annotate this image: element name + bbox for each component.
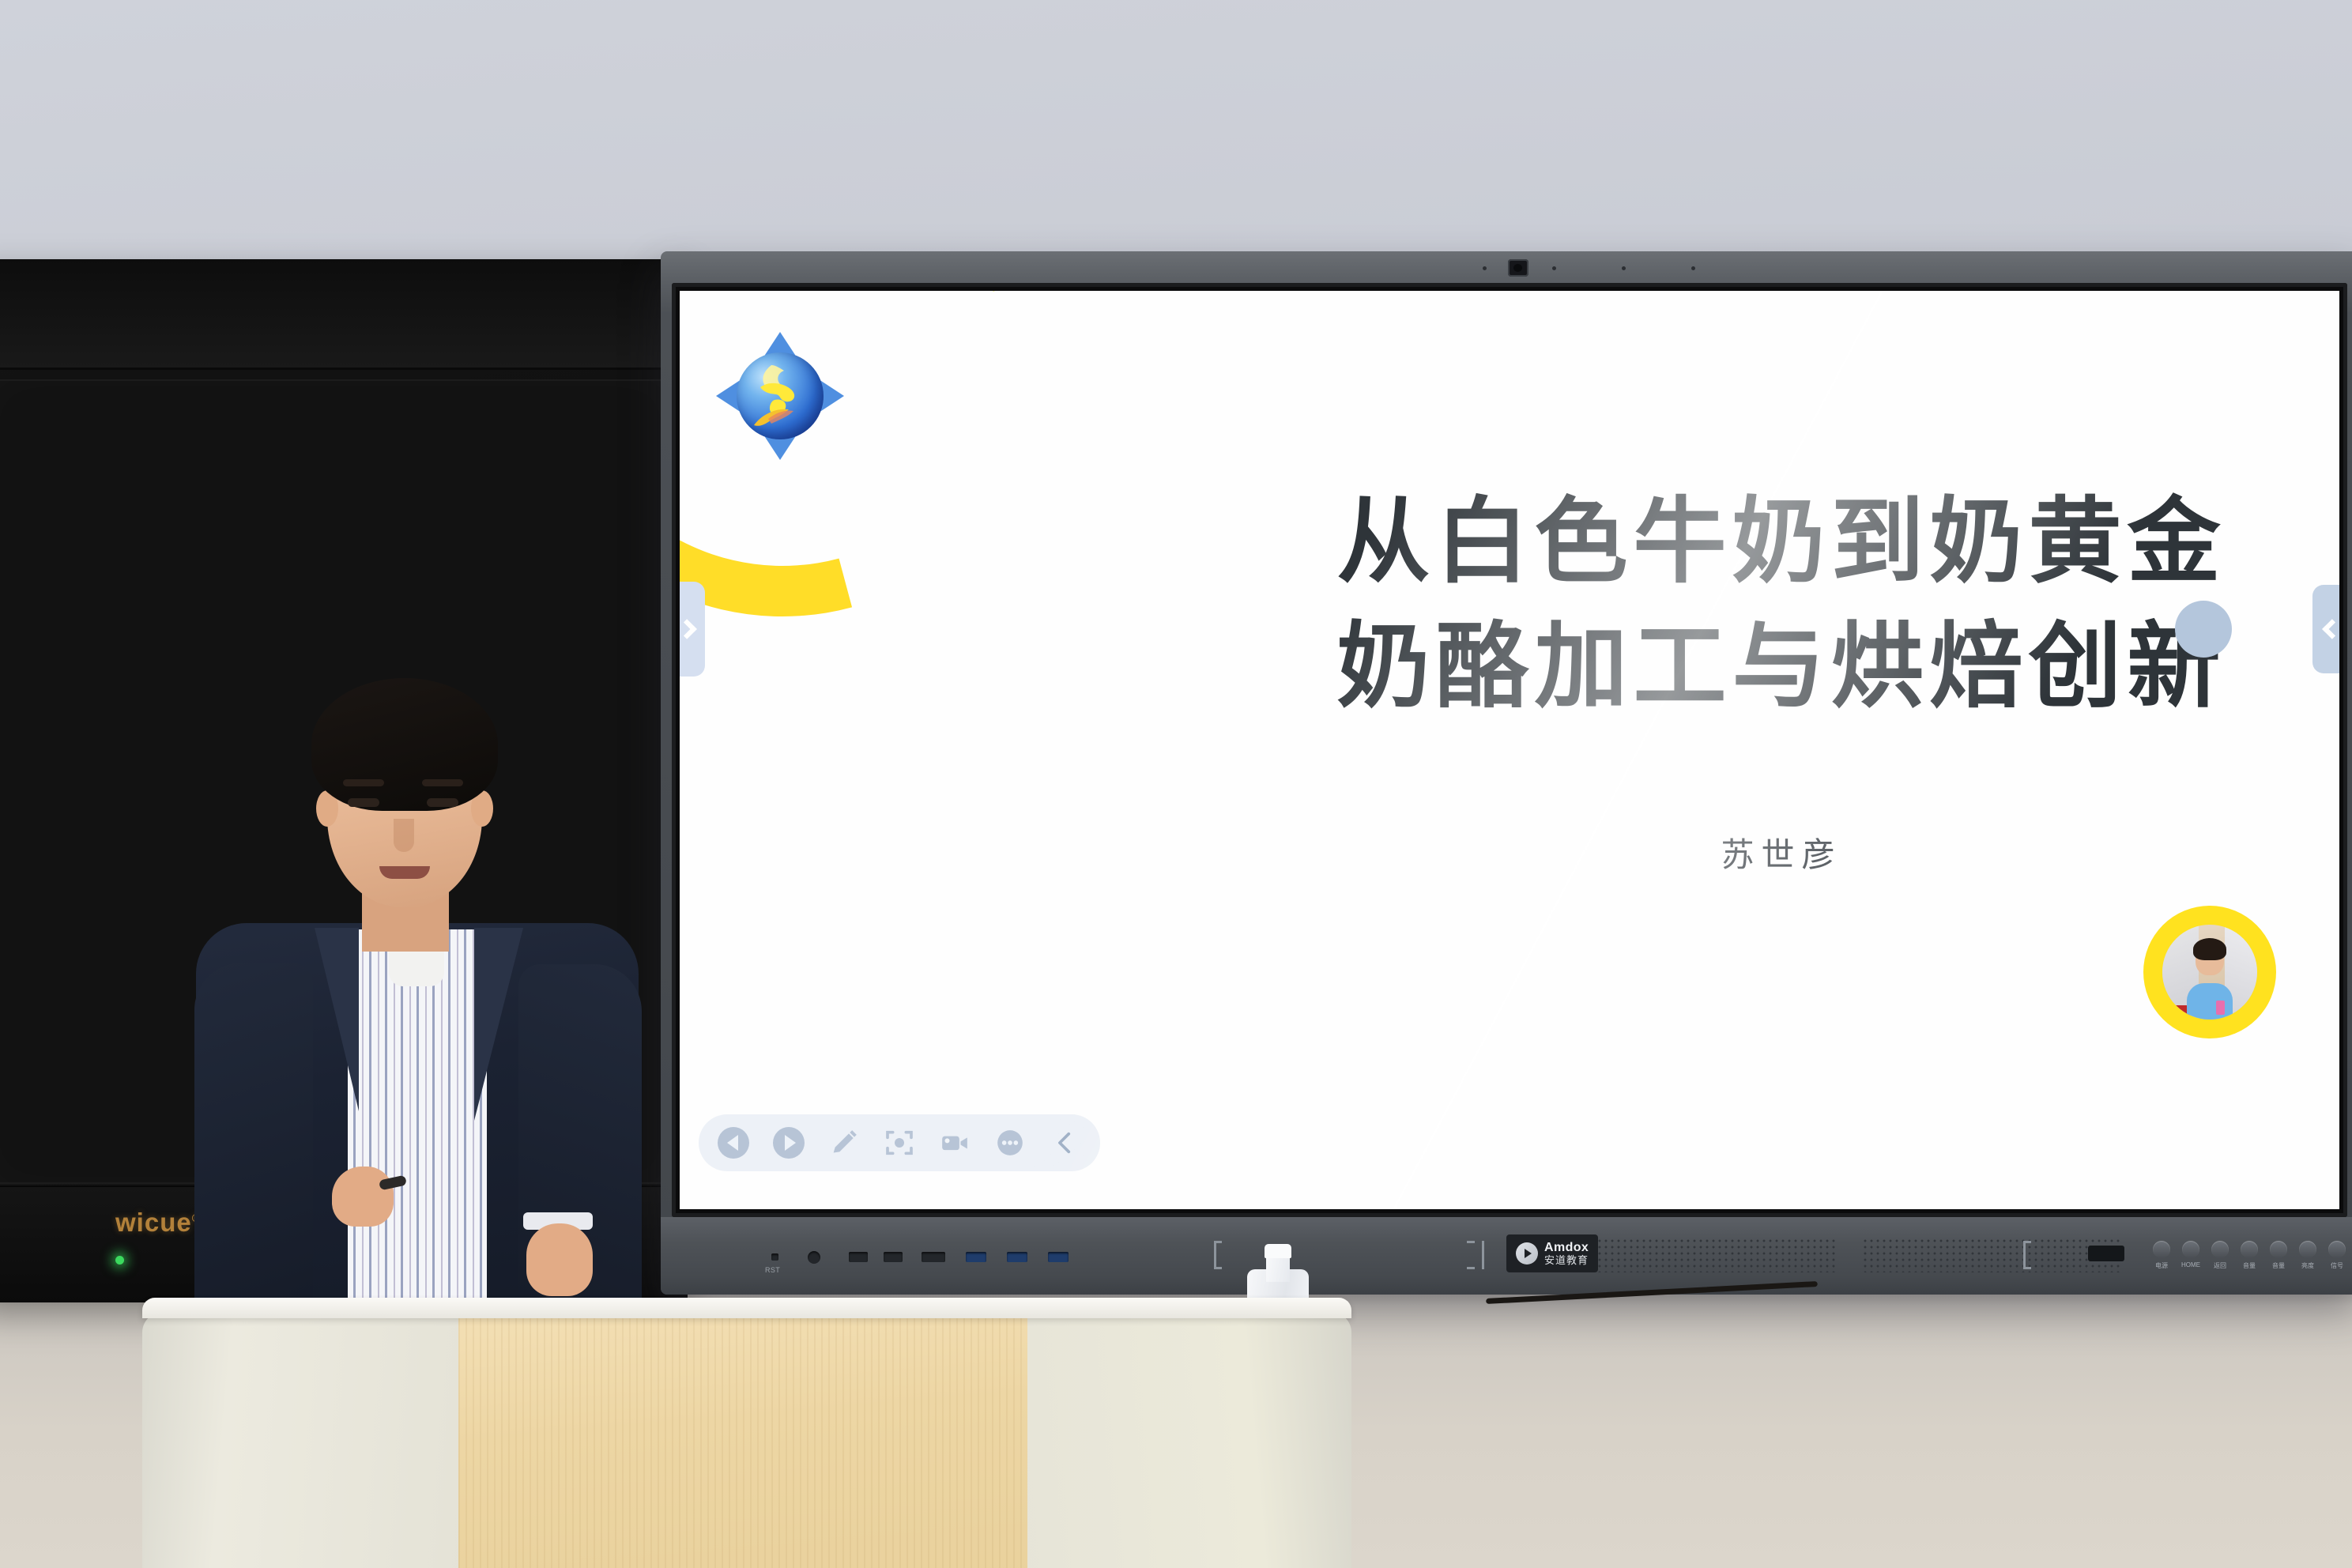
presenter-eye-left [348, 798, 379, 807]
volume-down-button[interactable]: 音量 [2270, 1241, 2287, 1258]
presenter-lapel-left [315, 928, 359, 1111]
wicue-brand-text: wicue [115, 1208, 192, 1237]
decorative-circle [2175, 601, 2232, 658]
power-button[interactable]: 电源 [2153, 1241, 2170, 1258]
presenter-mouth [379, 866, 430, 879]
presenter-nose [394, 819, 414, 852]
portrait-hair [2193, 938, 2226, 960]
hdmi-port[interactable] [849, 1252, 868, 1262]
sensor-bracket-left [1214, 1241, 1231, 1269]
classroom-scene: wicue® [0, 0, 2352, 1568]
amdox-brand-plate: Amdox 安道教育 [1506, 1234, 1598, 1272]
collapse-toolbar-icon [1052, 1129, 1079, 1156]
presenter-eyebrow-right [422, 779, 463, 786]
toolbar-more-button[interactable] [993, 1125, 1027, 1160]
presenter-hand-left [332, 1167, 394, 1227]
hardware-button-row[interactable]: 电源 HOME 返回 音量 音量 亮度 信号 菜单 [2153, 1241, 2352, 1258]
portrait-badge [2216, 1001, 2225, 1015]
slide-speaker-name: 苏世彦 [1268, 828, 2295, 876]
sidebar-collapse-handle-right[interactable] [2312, 585, 2339, 673]
ir-receiver-window [2088, 1246, 2124, 1261]
chevron-right-icon [680, 619, 697, 639]
presenter-eyebrow-left [343, 779, 384, 786]
podium-side-right [1010, 1312, 1351, 1568]
presenter-eye-right [427, 798, 458, 807]
chevron-left-icon [2322, 619, 2339, 639]
logo-flame-icon [737, 352, 824, 439]
amdox-logo-icon [1516, 1242, 1538, 1265]
speaker-grille-left [1577, 1238, 1838, 1272]
screenshot-capture-icon [884, 1127, 915, 1159]
microphone-hole [1483, 266, 1487, 270]
power-indicator-led [115, 1256, 124, 1265]
podium-side-left [142, 1312, 474, 1568]
podium-top-edge [142, 1298, 1351, 1318]
presenter [196, 678, 639, 1302]
sidebar-expand-handle-left[interactable] [680, 582, 705, 677]
interactive-smart-display[interactable]: 从白色牛奶到奶黄金 奶酪加工与烘焙创新 苏世彦 [661, 251, 2352, 1295]
microphone-hole [1552, 266, 1556, 270]
bottle-cap [1265, 1244, 1291, 1258]
presenter-arm-left [194, 963, 313, 1302]
amdox-brand-cn: 安道教育 [1544, 1255, 1589, 1266]
microphone-hole [1622, 266, 1626, 270]
organization-logo [716, 332, 844, 460]
slide-title-line-2: 奶酪加工与烘焙创新 [1268, 604, 2295, 729]
microphone-hole [1691, 266, 1695, 270]
sensor-bracket-right [1467, 1241, 1484, 1269]
portrait-body [2187, 983, 2233, 1020]
back-button[interactable]: 返回 [2211, 1241, 2229, 1258]
play-slide-icon [773, 1127, 805, 1159]
bottle-neck [1266, 1255, 1290, 1282]
toolbar-previous-slide-button[interactable] [716, 1125, 751, 1160]
display-screen[interactable]: 从白色牛奶到奶黄金 奶酪加工与烘焙创新 苏世彦 [680, 291, 2339, 1209]
podium-wood-panel [458, 1318, 1027, 1568]
slide-title-block: 从白色牛奶到奶黄金 奶酪加工与烘焙创新 [1268, 479, 2295, 729]
pen-annotate-icon [828, 1127, 860, 1159]
usb-port[interactable] [966, 1252, 986, 1262]
speaker-portrait-photo [2162, 925, 2257, 1020]
toolbar-record-button[interactable] [937, 1125, 972, 1160]
presenter-lapel-right [474, 928, 523, 1121]
screen-record-icon [939, 1127, 971, 1159]
sensor-bracket-far-right [2023, 1241, 2041, 1269]
reset-pinhole[interactable] [771, 1253, 778, 1261]
amdox-brand-en: Amdox [1544, 1242, 1589, 1255]
speaker-grille-right [1862, 1238, 2123, 1272]
more-options-icon [994, 1127, 1026, 1159]
toolbar-play-button[interactable] [771, 1125, 806, 1160]
port-label: RST [765, 1266, 780, 1274]
hdmi-port[interactable] [884, 1252, 903, 1262]
volume-up-button[interactable]: 音量 [2241, 1241, 2258, 1258]
wicue-brand-logo: wicue® [115, 1208, 201, 1238]
display-top-bezel [661, 251, 2352, 283]
usb-port[interactable] [1048, 1252, 1069, 1262]
toolbar-screenshot-button[interactable] [882, 1125, 917, 1160]
webcam-module-icon [1508, 259, 1528, 277]
display-bottom-bezel: RST Amdox 安道教育 电源 [661, 1217, 2352, 1295]
toolbar-collapse-button[interactable] [1048, 1125, 1083, 1160]
toolbar-annotate-button[interactable] [827, 1125, 861, 1160]
power-jack-port[interactable] [808, 1251, 820, 1264]
slide-floating-toolbar[interactable] [699, 1114, 1100, 1171]
slide-title-line-1: 从白色牛奶到奶黄金 [1268, 479, 2295, 604]
brightness-button[interactable]: 亮度 [2299, 1241, 2316, 1258]
speaker-portrait-ring [2143, 906, 2276, 1038]
home-button[interactable]: HOME [2182, 1241, 2199, 1258]
presentation-slide[interactable]: 从白色牛奶到奶黄金 奶酪加工与烘焙创新 苏世彦 [680, 291, 2339, 1209]
presenter-hand-right [526, 1223, 593, 1296]
previous-slide-icon [718, 1127, 749, 1159]
blackboard-top-rail [0, 259, 688, 370]
presenter-hair [311, 678, 498, 811]
lectern-podium [142, 1298, 1351, 1568]
usb-port[interactable] [1007, 1252, 1027, 1262]
touch-usb-port[interactable] [922, 1252, 945, 1262]
source-button[interactable]: 信号 [2328, 1241, 2346, 1258]
